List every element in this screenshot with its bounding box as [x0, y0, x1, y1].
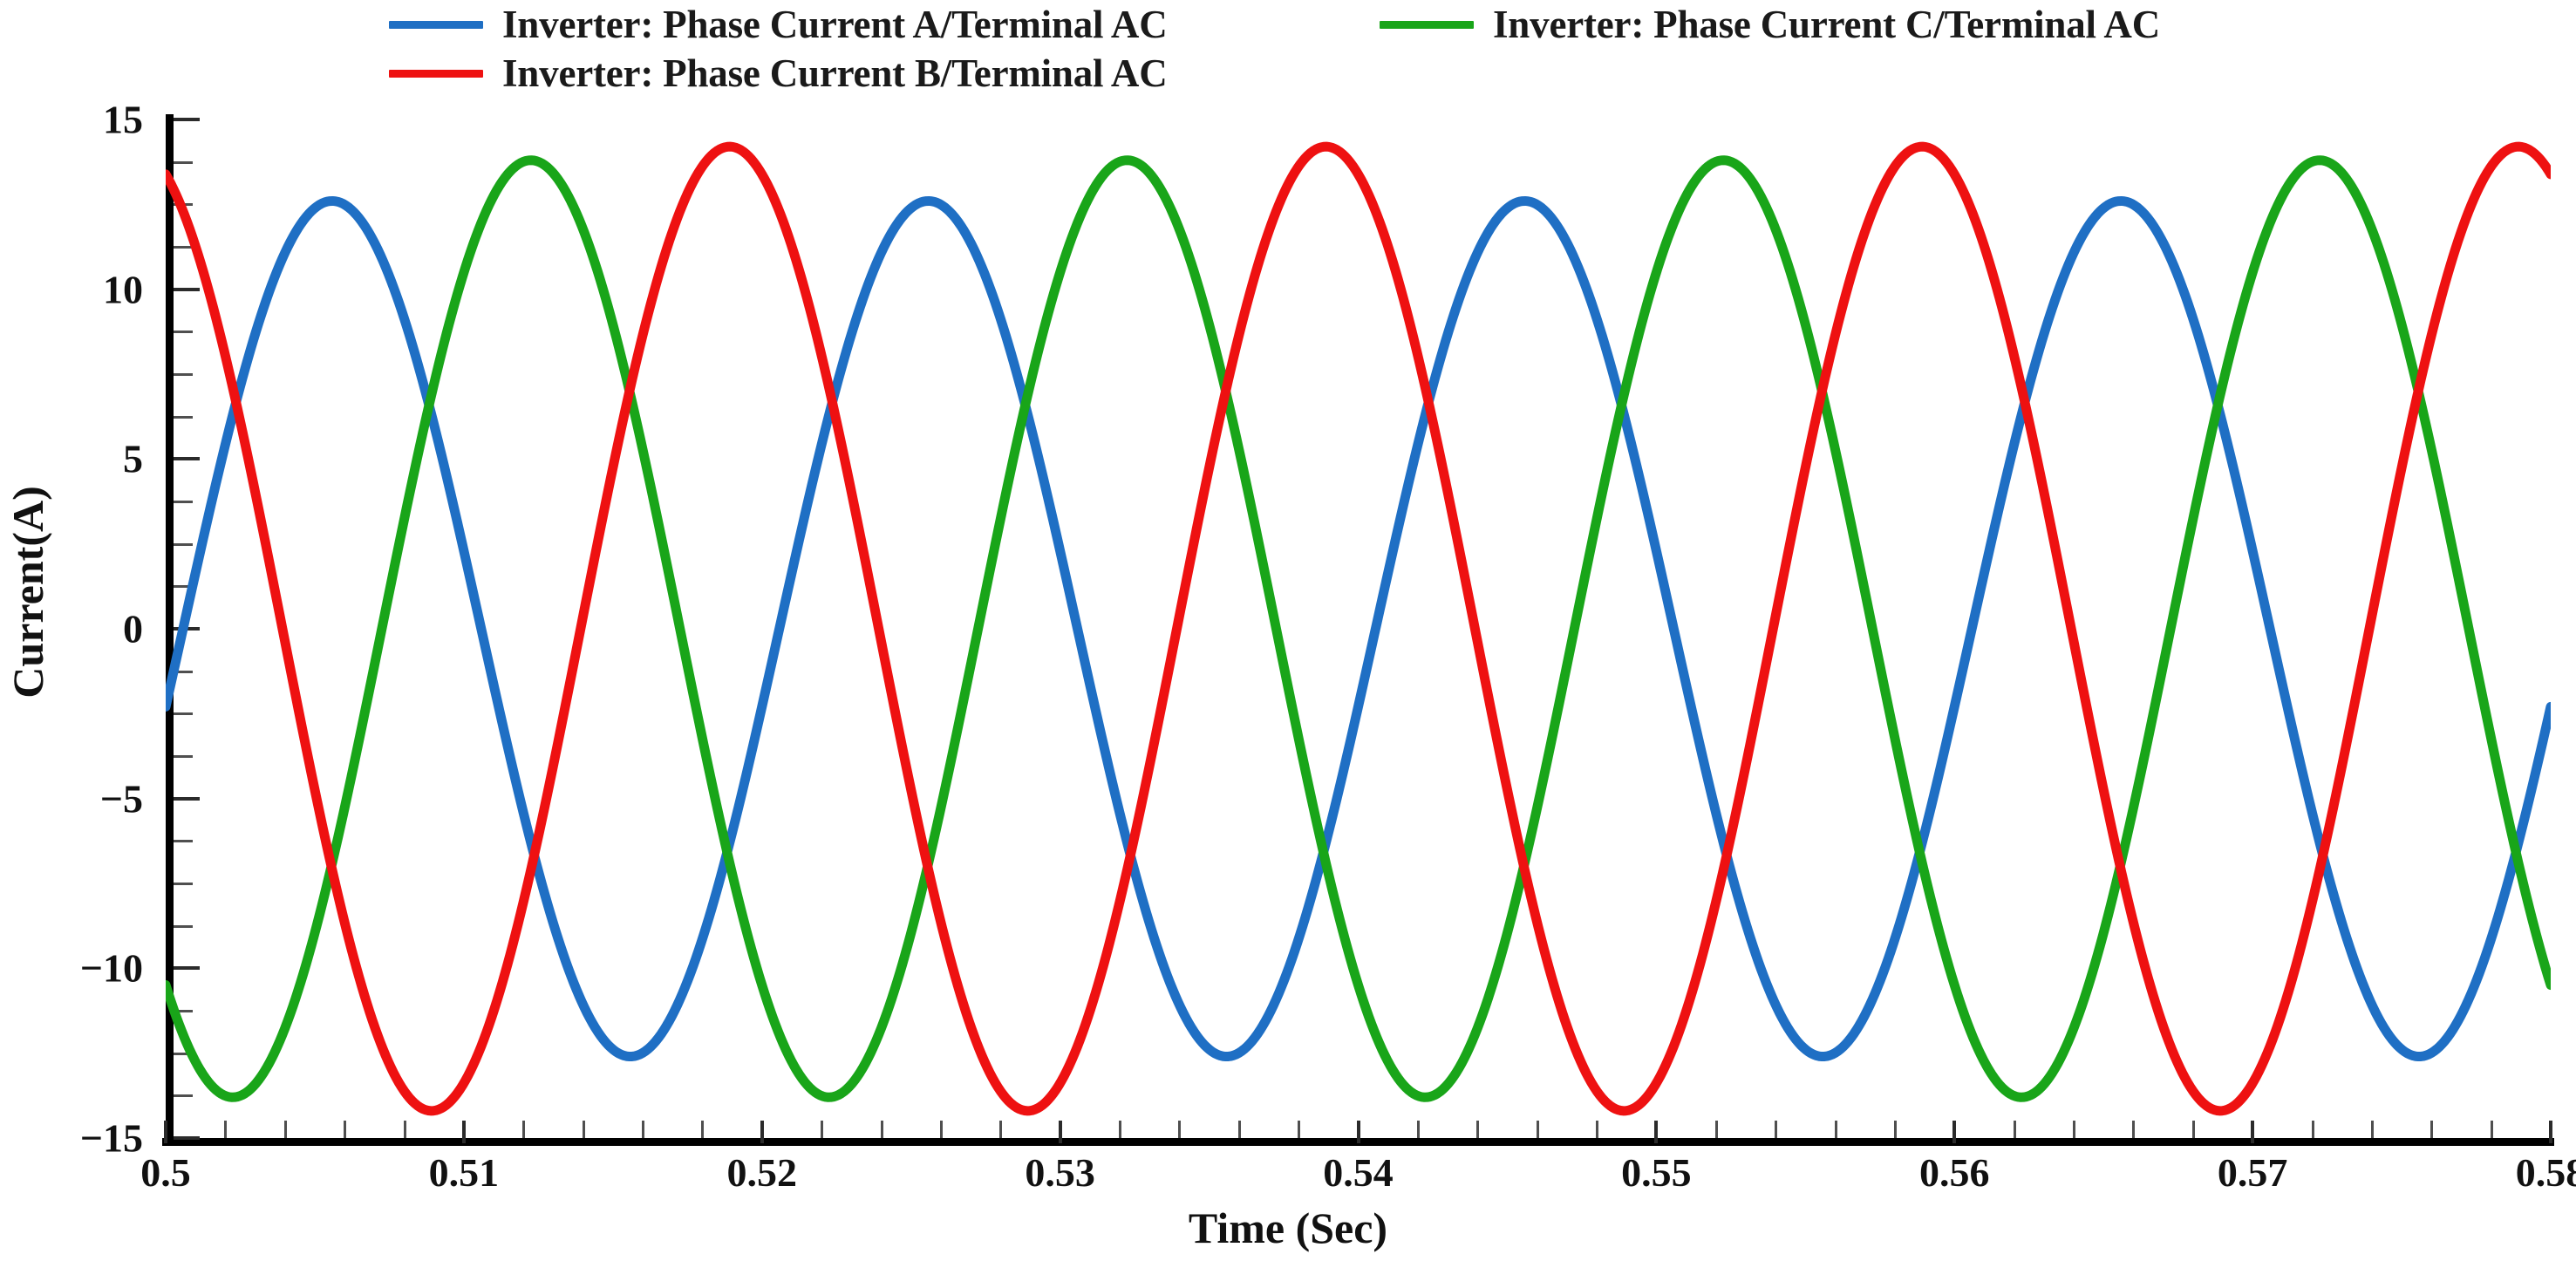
y-axis-tick-label: −5 — [100, 775, 143, 821]
y-axis-tick-label: 15 — [103, 97, 143, 143]
legend-label-phase-a: Inverter: Phase Current A/Terminal AC — [502, 5, 1168, 44]
legend-item-phase-c[interactable]: Inverter: Phase Current C/Terminal AC — [1380, 5, 2160, 44]
legend-label-phase-c: Inverter: Phase Current C/Terminal AC — [1493, 5, 2160, 44]
y-axis-title: Current(A) — [3, 261, 53, 924]
series-line-phase-b — [166, 147, 2551, 1111]
plot-area — [166, 119, 2551, 1138]
y-axis-tick-label: 5 — [123, 436, 143, 482]
waveform-curves — [166, 119, 2551, 1138]
x-axis-tick-label: 0.55 — [1621, 1149, 1692, 1196]
y-axis-tick-label: −10 — [80, 945, 143, 992]
x-axis-tick-label: 0.57 — [2218, 1149, 2288, 1196]
x-axis-title: Time (Sec) — [0, 1203, 2576, 1253]
y-axis-tick-label: 10 — [103, 266, 143, 312]
x-axis-tick-label: 0.56 — [1919, 1149, 1990, 1196]
y-axis-tick-label: −15 — [80, 1115, 143, 1162]
x-axis-tick-label: 0.52 — [727, 1149, 798, 1196]
legend-item-phase-a[interactable]: Inverter: Phase Current A/Terminal AC — [389, 5, 1168, 44]
legend-line-swatch-phase-c — [1380, 21, 1474, 29]
x-axis-tick-label: 0.5 — [140, 1149, 191, 1196]
chart-legend: Inverter: Phase Current A/Terminal AC In… — [0, 0, 2576, 103]
x-axis-tick-label: 0.51 — [429, 1149, 500, 1196]
legend-item-phase-b[interactable]: Inverter: Phase Current B/Terminal AC — [389, 54, 1168, 93]
x-axis-tick-label: 0.53 — [1025, 1149, 1095, 1196]
x-axis-tick-label: 0.58 — [2516, 1149, 2576, 1196]
chart-figure: Inverter: Phase Current A/Terminal AC In… — [0, 0, 2576, 1261]
x-axis-tick-label: 0.54 — [1323, 1149, 1394, 1196]
legend-line-swatch-phase-a — [389, 21, 483, 29]
y-axis-tick-label: 0 — [123, 606, 143, 652]
series-line-phase-a — [166, 201, 2551, 1056]
legend-label-phase-b: Inverter: Phase Current B/Terminal AC — [502, 54, 1168, 93]
series-line-phase-c — [166, 160, 2551, 1098]
legend-line-swatch-phase-b — [389, 70, 483, 78]
